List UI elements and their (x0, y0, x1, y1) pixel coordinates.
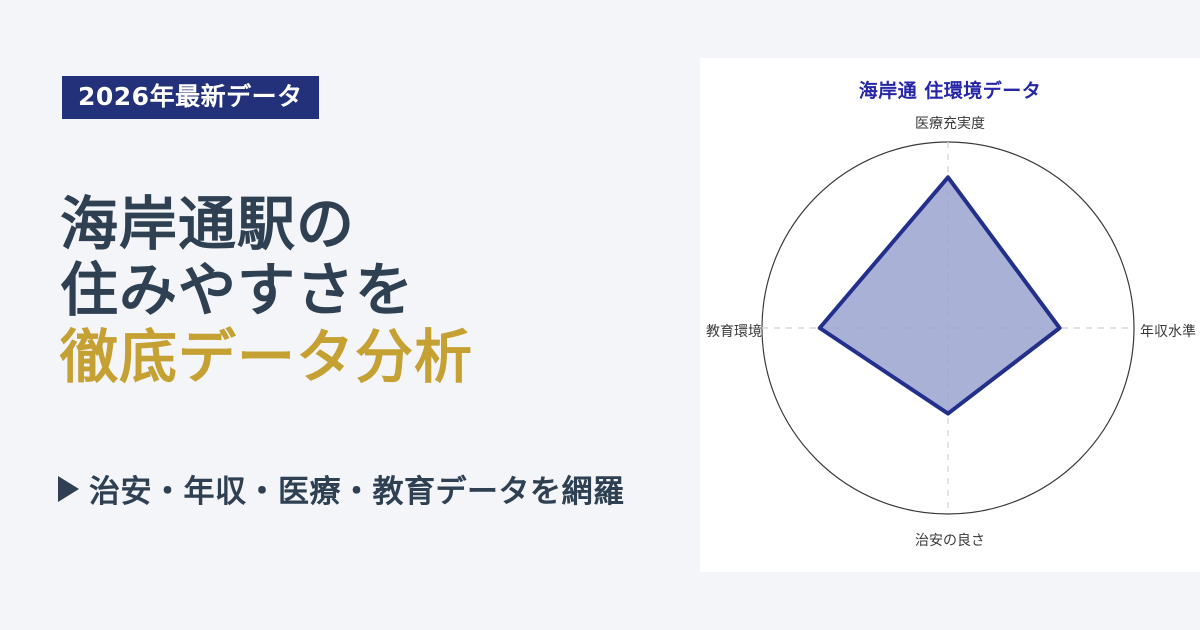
headline-line-1: 海岸通駅の (60, 191, 680, 257)
subtitle-label: 治安・年収・医療・教育データを網羅 (89, 466, 625, 511)
headline-line-2: 住みやすさを (60, 257, 680, 323)
play-triangle-icon (58, 476, 79, 502)
radar-axis-label-top: 医療充実度 (700, 113, 1200, 133)
subtitle: 治安・年収・医療・教育データを網羅 (58, 466, 625, 511)
radar-axis-label-right: 年収水準 (1140, 321, 1196, 341)
chart-card: 海岸通 住環境データ 医療充実度 年収水準 治安の良さ 教育環境 (700, 58, 1200, 572)
date-badge: 2026年最新データ (62, 76, 319, 119)
page-title: 海岸通駅の 住みやすさを 徹底データ分析 (60, 191, 680, 392)
radar-series-polygon (820, 177, 1060, 413)
radar-chart (700, 58, 1200, 572)
headline-line-3-accent: 徹底データ分析 (60, 323, 680, 391)
hero-panel: 2026年最新データ 海岸通駅の 住みやすさを 徹底データ分析 治安・年収・医療… (0, 0, 700, 630)
poster-root: 2026年最新データ 海岸通駅の 住みやすさを 徹底データ分析 治安・年収・医療… (0, 0, 1200, 630)
radar-axis-label-left: 教育環境 (706, 321, 762, 341)
radar-axis-label-bottom: 治安の良さ (700, 530, 1200, 550)
